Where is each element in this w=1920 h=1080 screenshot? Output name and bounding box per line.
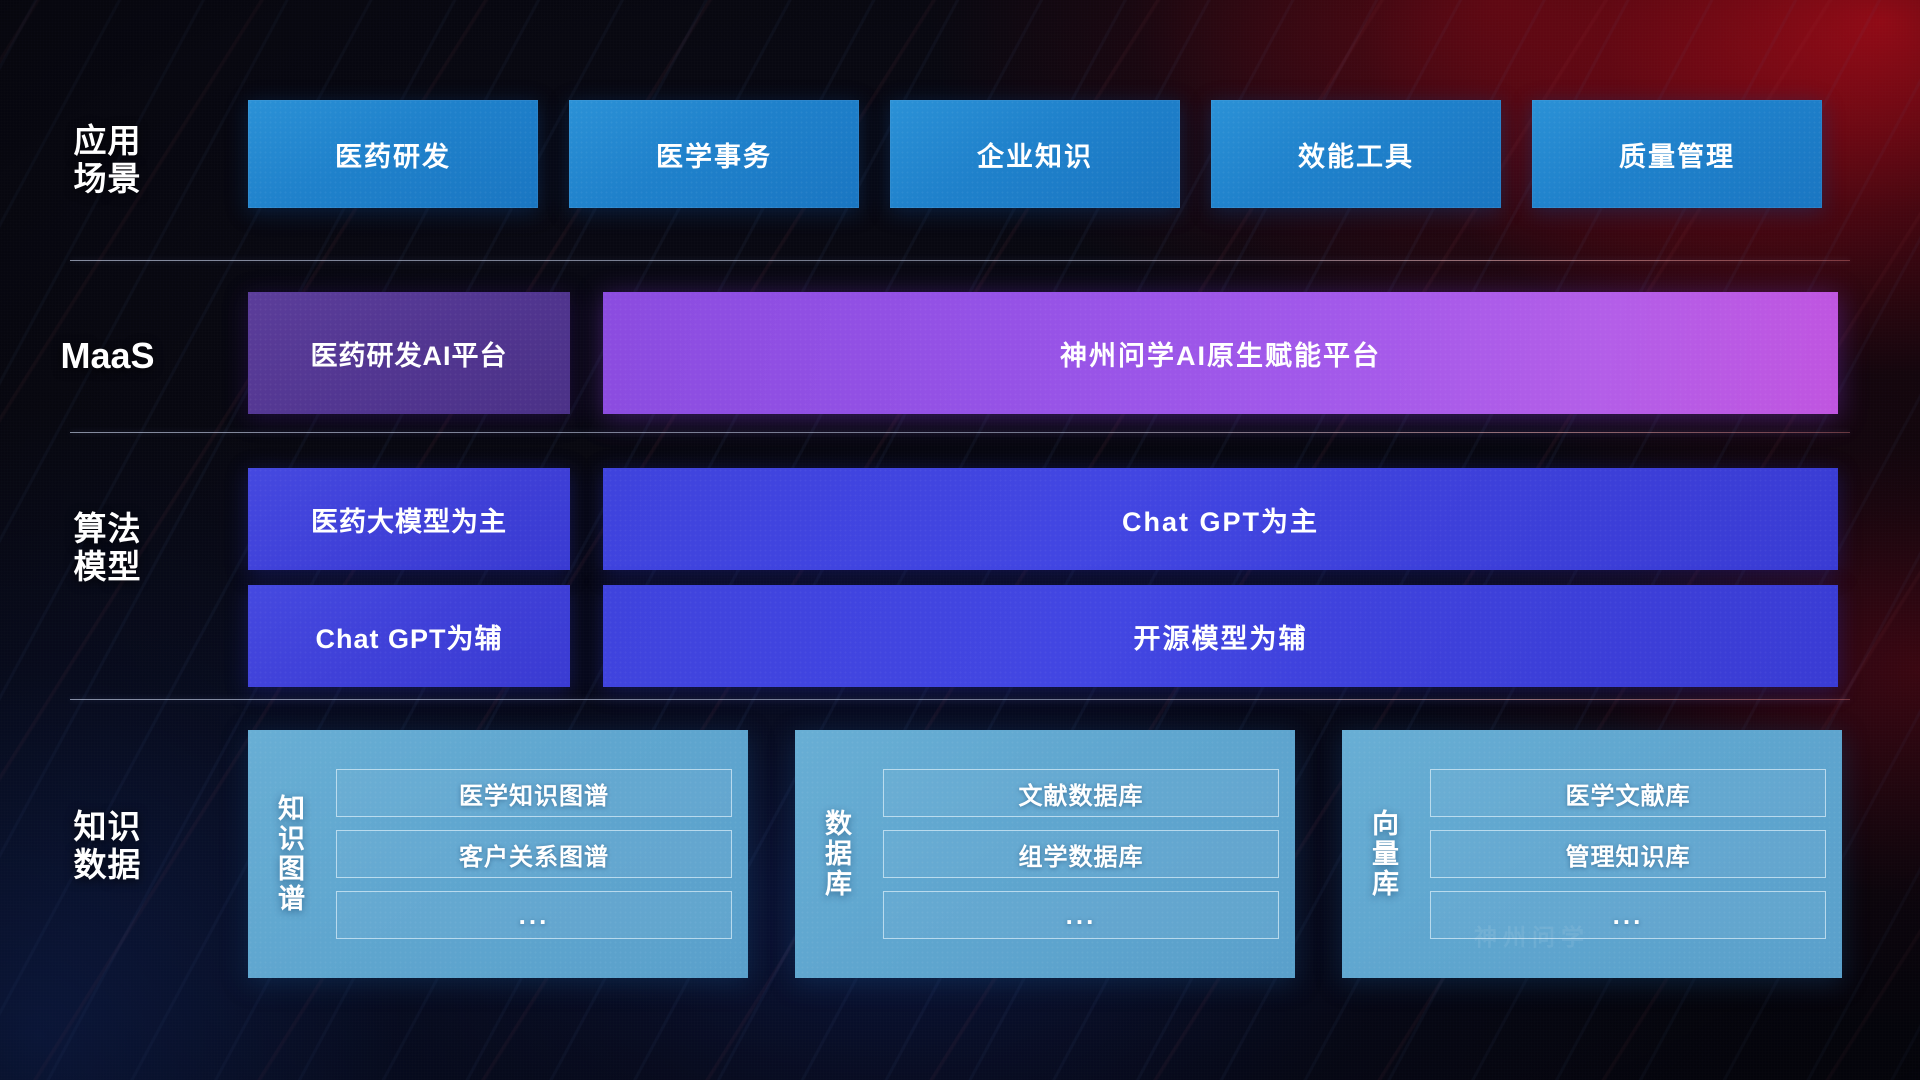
row-label-algorithm-model: 算法 模型 bbox=[0, 510, 215, 587]
knowledge-item-medical-knowledge-graph[interactable]: 医学知识图谱 bbox=[336, 769, 732, 817]
knowledge-item-medical-literature-store[interactable]: 医学文献库 bbox=[1430, 769, 1826, 817]
row-label-maas: MaaS bbox=[0, 335, 215, 377]
knowledge-data-row: 知 识 图 谱 医学知识图谱 客户关系图谱 ... 数 据 库 文献数据库 组学… bbox=[248, 730, 1842, 978]
application-scenarios-row: 医药研发 医学事务 企业知识 效能工具 质量管理 bbox=[248, 100, 1822, 208]
row-label-knowledge-data: 知识 数据 bbox=[0, 808, 215, 885]
knowledge-item-customer-relation-graph[interactable]: 客户关系图谱 bbox=[336, 830, 732, 878]
knowledge-panel-database[interactable]: 数 据 库 文献数据库 组学数据库 ... bbox=[795, 730, 1295, 978]
algo-card-opensource-model-secondary[interactable]: 开源模型为辅 bbox=[603, 585, 1838, 687]
algorithm-row-secondary: Chat GPT为辅 开源模型为辅 bbox=[248, 585, 1838, 687]
knowledge-item-management-knowledge-store[interactable]: 管理知识库 bbox=[1430, 830, 1826, 878]
divider-application-maas bbox=[70, 260, 1850, 261]
knowledge-item-omics-database[interactable]: 组学数据库 bbox=[883, 830, 1279, 878]
app-card-efficiency-tools[interactable]: 效能工具 bbox=[1211, 100, 1501, 208]
maas-card-medicine-ai-platform[interactable]: 医药研发AI平台 bbox=[248, 292, 570, 414]
knowledge-item-more-database[interactable]: ... bbox=[883, 891, 1279, 939]
app-card-medical-affairs[interactable]: 医学事务 bbox=[569, 100, 859, 208]
knowledge-panel-items-vector-store: 医学文献库 管理知识库 ... bbox=[1430, 769, 1826, 939]
knowledge-panel-vector-store[interactable]: 向 量 库 医学文献库 管理知识库 ... bbox=[1342, 730, 1842, 978]
maas-card-shenzhou-wenxue-platform[interactable]: 神州问学AI原生赋能平台 bbox=[603, 292, 1838, 414]
knowledge-panel-knowledge-graph[interactable]: 知 识 图 谱 医学知识图谱 客户关系图谱 ... bbox=[248, 730, 748, 978]
knowledge-panel-title-database: 数 据 库 bbox=[795, 809, 883, 900]
knowledge-panel-title-vector-store: 向 量 库 bbox=[1342, 809, 1430, 900]
algo-card-chatgpt-secondary[interactable]: Chat GPT为辅 bbox=[248, 585, 570, 687]
row-label-application-scenarios: 应用 场景 bbox=[0, 122, 215, 199]
app-card-enterprise-knowledge[interactable]: 企业知识 bbox=[890, 100, 1180, 208]
app-card-quality-management[interactable]: 质量管理 bbox=[1532, 100, 1822, 208]
knowledge-panel-title-knowledge-graph: 知 识 图 谱 bbox=[248, 794, 336, 915]
knowledge-panel-items-database: 文献数据库 组学数据库 ... bbox=[883, 769, 1279, 939]
knowledge-item-more-knowledge-graph[interactable]: ... bbox=[336, 891, 732, 939]
divider-algorithm-knowledge bbox=[70, 699, 1850, 700]
knowledge-panel-items-knowledge-graph: 医学知识图谱 客户关系图谱 ... bbox=[336, 769, 732, 939]
maas-row: 医药研发AI平台 神州问学AI原生赋能平台 bbox=[248, 292, 1838, 414]
knowledge-item-more-vector-store[interactable]: ... bbox=[1430, 891, 1826, 939]
knowledge-item-literature-database[interactable]: 文献数据库 bbox=[883, 769, 1279, 817]
algo-card-medicine-large-model-primary[interactable]: 医药大模型为主 bbox=[248, 468, 570, 570]
architecture-diagram: 应用 场景 医药研发 医学事务 企业知识 效能工具 质量管理 MaaS 医药研发… bbox=[0, 0, 1920, 1080]
app-card-medicine-rnd[interactable]: 医药研发 bbox=[248, 100, 538, 208]
divider-maas-algorithm bbox=[70, 432, 1850, 433]
algo-card-chatgpt-primary[interactable]: Chat GPT为主 bbox=[603, 468, 1838, 570]
algorithm-row-primary: 医药大模型为主 Chat GPT为主 bbox=[248, 468, 1838, 570]
